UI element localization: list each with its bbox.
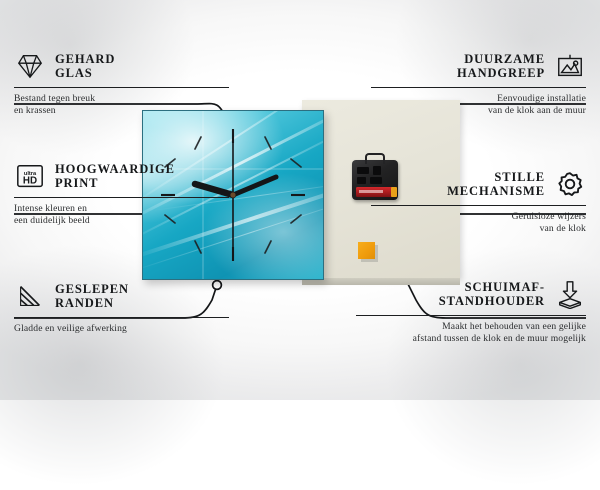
feature-description: Geruisloze wijzersvan de klok	[371, 211, 586, 234]
feature-schuimaf-standhouder: SCHUIMAF-STANDHOUDER Maakt het behouden …	[356, 278, 586, 344]
feature-title: DUURZAMEHANDGREEP	[457, 52, 545, 80]
feature-title: GEHARDGLAS	[55, 52, 115, 80]
divider	[14, 317, 229, 318]
divider	[371, 87, 586, 88]
diamond-icon	[14, 50, 46, 82]
diagonal-lines-icon	[14, 280, 46, 312]
feature-title: SCHUIMAF-STANDHOUDER	[439, 280, 545, 308]
divider	[356, 315, 586, 316]
divider	[14, 197, 229, 198]
feature-title: GESLEPENRANDEN	[55, 282, 129, 310]
feature-gehard-glas: GEHARDGLAS Bestand tegen breuken krassen	[14, 50, 229, 116]
feature-title: HOOGWAARDIGEPRINT	[55, 162, 175, 190]
feature-description: Eenvoudige installatievan de klok aan de…	[371, 93, 586, 116]
feature-geslepen-randen: GESLEPENRANDEN Gladde en veilige afwerki…	[14, 280, 229, 335]
divider	[371, 205, 586, 206]
divider	[14, 87, 229, 88]
ultra-hd-icon: ultra HD	[14, 160, 46, 192]
feature-title: STILLEMECHANISME	[447, 170, 545, 198]
feature-duurzame-handgreep: DUURZAMEHANDGREEP Eenvoudige installatie…	[371, 50, 586, 116]
svg-text:HD: HD	[23, 176, 37, 187]
feature-description: Intense kleuren eneen duidelijk beeld	[14, 203, 229, 226]
feature-hoogwaardige-print: ultra HD HOOGWAARDIGEPRINT Intense kleur…	[14, 160, 229, 226]
feature-stille-mechanisme: STILLEMECHANISME Geruisloze wijzersvan d…	[371, 168, 586, 234]
gear-icon	[554, 168, 586, 200]
foam-spacer-pad	[358, 242, 375, 259]
picture-frame-icon	[554, 50, 586, 82]
feature-description: Bestand tegen breuken krassen	[14, 93, 229, 116]
feature-description: Maakt het behouden van een gelijkeafstan…	[356, 321, 586, 344]
press-down-pad-icon	[554, 278, 586, 310]
infographic-canvas: GEHARDGLAS Bestand tegen breuken krassen…	[0, 0, 600, 400]
hanger-hook-icon	[365, 153, 385, 164]
feature-description: Gladde en veilige afwerking	[14, 323, 229, 335]
